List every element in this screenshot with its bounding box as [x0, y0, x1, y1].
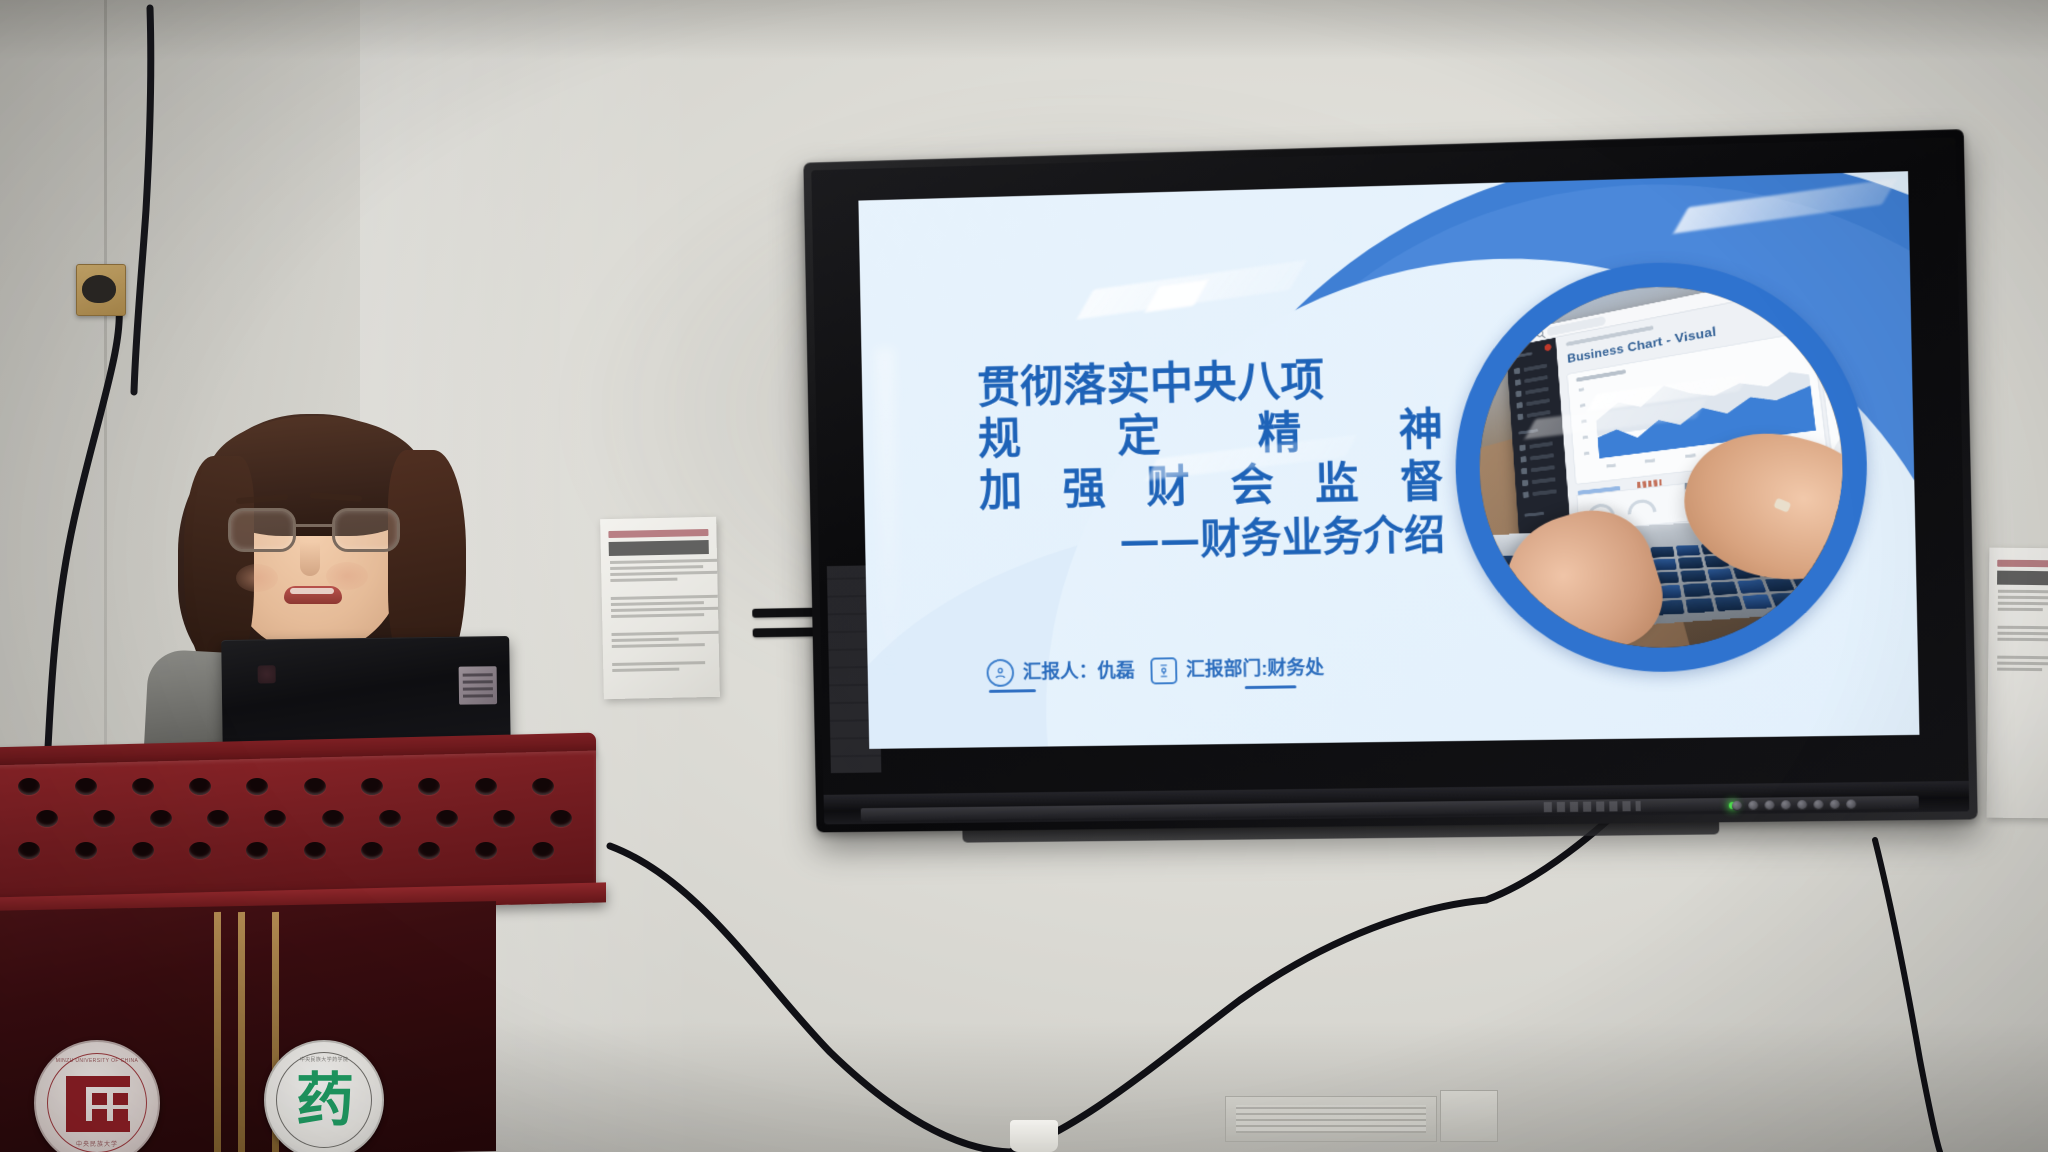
- cheek-left: [236, 564, 278, 592]
- title-char: 财: [1146, 462, 1190, 514]
- id-card-icon: [1150, 657, 1177, 684]
- title-char: 精: [1257, 408, 1302, 461]
- notice-text-line: [611, 607, 720, 612]
- title-char: 加: [979, 465, 1023, 517]
- mouth: [284, 586, 342, 604]
- emblem-outer-text: MINZU UNIVERSITY OF CHINA: [36, 1058, 158, 1064]
- display-button[interactable]: [1748, 801, 1758, 811]
- display-button[interactable]: [1797, 800, 1807, 810]
- user-circle-icon: [986, 659, 1014, 687]
- lens-left: [228, 508, 296, 552]
- display-button[interactable]: [1846, 799, 1856, 809]
- slide-circle-photo: Business Chart - Visual: [1476, 282, 1846, 650]
- presenter-dept-group: 汇报部门:财务处: [1150, 653, 1324, 686]
- glasses-bridge: [296, 524, 332, 527]
- paper-cup: [1010, 1120, 1058, 1152]
- notice-text-line: [1997, 662, 2048, 666]
- title-char: 监: [1314, 458, 1359, 511]
- emblem-outer-text: 中央民族大学药学院: [266, 1056, 382, 1063]
- notice-text-line: [611, 613, 704, 618]
- notice-text-line: [1998, 590, 2048, 594]
- notice-text-line: [612, 668, 679, 672]
- notice-text-line: [1998, 632, 2048, 636]
- slide-subtitle: ——财务业务介绍: [980, 510, 1446, 567]
- emblem-mark: [66, 1076, 130, 1132]
- notice-text-line: [1998, 596, 2048, 600]
- notice-text-line: [1998, 602, 2048, 606]
- title-char: 督: [1399, 457, 1444, 510]
- display-button[interactable]: [1813, 800, 1823, 810]
- notice-text-line: [610, 559, 719, 564]
- presenter-dept-label: 汇报部门:财务处: [1186, 653, 1325, 685]
- podium-gold-stripe: [238, 912, 245, 1152]
- notice-text-line: [611, 601, 704, 606]
- display-button[interactable]: [1764, 800, 1774, 810]
- notice-text-line: [611, 595, 720, 600]
- search-icon: [1536, 330, 1543, 338]
- notice-text-line: [612, 661, 705, 666]
- slide-title: 贯彻落实中央八项 规 定 精 神 加 强 财 会 监 督: [977, 353, 1446, 568]
- emblem-inner-text: 中央民族大学: [36, 1139, 158, 1148]
- notice-heading: [608, 529, 708, 538]
- emblem-mark: 药: [292, 1070, 358, 1132]
- notice-text-line: [1997, 656, 2048, 660]
- power-plug: [82, 275, 116, 303]
- display-antenna-rod: [752, 608, 820, 618]
- gauge-2: [1627, 498, 1657, 515]
- notice-banner: [609, 540, 709, 556]
- laptop-logo: [258, 665, 276, 683]
- ceiling-edge-shadow: [0, 0, 2048, 60]
- wall-power-socket[interactable]: [76, 264, 126, 316]
- notice-text-line: [612, 631, 720, 636]
- title-char: 定: [1117, 411, 1161, 463]
- display-control-buttons[interactable]: [1732, 799, 1857, 811]
- nose: [300, 542, 320, 576]
- slide-presenter-row: 汇报人：仇磊 汇报部门:财务处: [986, 653, 1324, 688]
- notice-heading: [1997, 560, 2048, 568]
- posted-notice-sheet: [1987, 548, 2048, 819]
- notice-text-line: [1998, 626, 2048, 630]
- posted-notice-sheet: [600, 517, 720, 699]
- notice-text-line: [610, 571, 719, 576]
- room-scene: Business Chart - Visual: [0, 0, 2048, 1152]
- floor-air-vent: [1225, 1096, 1437, 1142]
- wooden-podium: MINZU UNIVERSITY OF CHINA 中央民族大学 中央民族大学药…: [0, 740, 626, 1152]
- teeth: [290, 588, 334, 594]
- notice-text-line: [610, 578, 677, 582]
- school-of-pharmacy-emblem: 中央民族大学药学院 药: [264, 1040, 384, 1152]
- notice-text-line: [1997, 668, 2042, 671]
- display-brand-logo: [1544, 801, 1641, 812]
- laptop-sticker: [459, 666, 498, 705]
- wall-utility-box: [1440, 1090, 1498, 1142]
- title-char: 规: [978, 414, 1022, 466]
- notice-text-line: [612, 643, 705, 648]
- title-char: 会: [1230, 460, 1275, 513]
- notice-banner: [1997, 571, 2048, 586]
- notice-text-line: [1997, 638, 2048, 642]
- title-char: 神: [1398, 405, 1443, 458]
- display-screen[interactable]: Business Chart - Visual: [858, 171, 1919, 749]
- lens-right: [332, 508, 400, 552]
- chart-card-title: [1576, 369, 1626, 382]
- display-button[interactable]: [1830, 800, 1840, 810]
- notice-text-line: [610, 565, 703, 570]
- slide-circle-photo-ring: Business Chart - Visual: [1452, 258, 1871, 675]
- display-antenna-rod: [753, 627, 821, 637]
- slide-title-line-3: 加 强 财 会 监 督: [979, 457, 1445, 518]
- presenter-name-group: 汇报人：仇磊: [986, 656, 1135, 688]
- notice-text-line: [1998, 608, 2043, 611]
- wall-mounted-display[interactable]: Business Chart - Visual: [803, 129, 1977, 832]
- podium-gold-stripe: [214, 912, 221, 1152]
- presenter-name-label: 汇报人：仇磊: [1023, 656, 1136, 687]
- presentation-slide: Business Chart - Visual: [858, 171, 1919, 749]
- podium-speaker-holes: [0, 770, 572, 866]
- display-button[interactable]: [1732, 801, 1742, 811]
- notice-text-line: [612, 638, 679, 642]
- display-button[interactable]: [1781, 800, 1791, 810]
- title-char: 强: [1062, 464, 1106, 516]
